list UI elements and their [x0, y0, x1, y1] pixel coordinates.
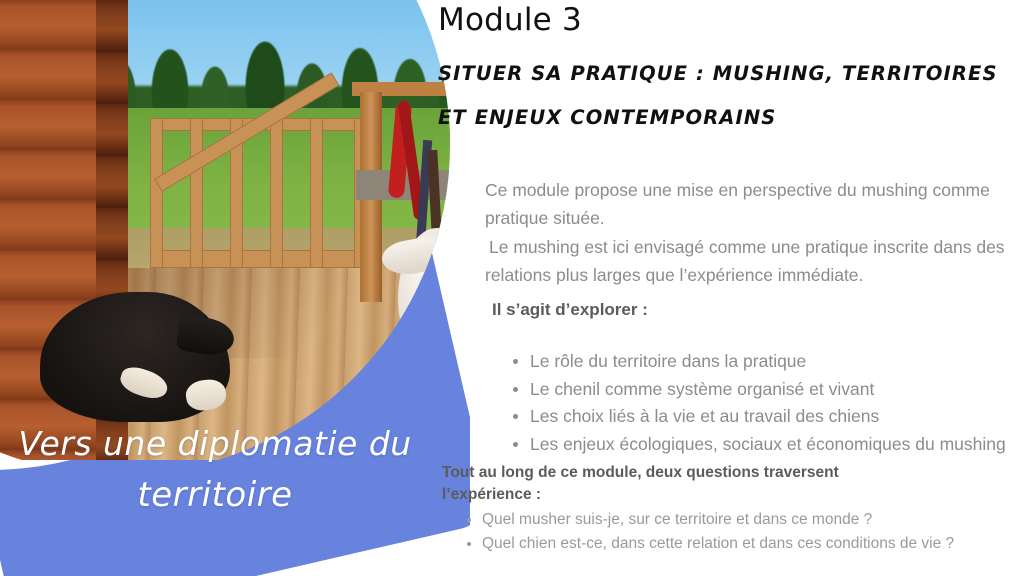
explore-list: Le rôle du territoire dans la pratique L…: [502, 348, 1024, 459]
gate-post-5: [310, 118, 323, 268]
gate-post-2: [190, 118, 203, 268]
list-item: Quel chien est-ce, dans cette relation e…: [482, 532, 1024, 556]
intro-block: Ce module propose une mise en perspectiv…: [485, 176, 1020, 289]
closing-list: Quel musher suis-je, sur ce territoire e…: [456, 508, 1024, 556]
list-item: Le rôle du territoire dans la pratique: [530, 348, 1024, 376]
list-item: Le chenil comme système organisé et viva…: [530, 376, 1024, 404]
deck-title: Vers une diplomatie du territoire: [0, 418, 430, 522]
module-subtitle: Situer sa pratique : mushing, territoire…: [438, 52, 1018, 140]
deck-title-line-1: Vers une diplomatie du: [0, 418, 430, 469]
list-item: Les enjeux écologiques, sociaux et écono…: [530, 431, 1024, 459]
gate-bottom-rail: [150, 250, 367, 268]
intro-paragraph-1: Ce module propose une mise en perspectiv…: [485, 176, 1020, 233]
list-item: Quel musher suis-je, sur ce territoire e…: [482, 508, 1024, 532]
gate-post-1: [150, 118, 163, 268]
left-visual-column: Vers une diplomatie du territoire: [0, 0, 470, 576]
module-label: Module 3: [438, 2, 582, 38]
slide: Vers une diplomatie du territoire Module…: [0, 0, 1024, 576]
explore-heading: Il s’agit d’explorer :: [492, 300, 648, 320]
photo-wooden-gate: [150, 118, 365, 266]
intro-paragraph-2: Le mushing est ici envisagé comme une pr…: [485, 233, 1020, 290]
closing-heading: Tout au long de ce module, deux question…: [442, 462, 922, 506]
list-item: Les choix liés à la vie et au travail de…: [530, 403, 1024, 431]
content-column: Module 3 Situer sa pratique : mushing, t…: [430, 0, 1024, 576]
deck-title-line-2: territoire: [0, 469, 430, 522]
gate-post-4: [270, 118, 283, 268]
